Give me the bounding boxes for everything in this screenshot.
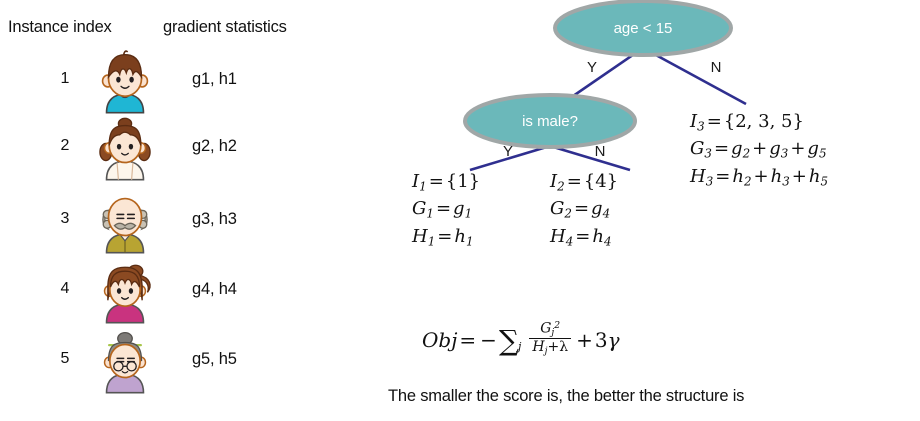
young-woman-avatar bbox=[92, 258, 158, 324]
instance-index-value: 5 bbox=[52, 350, 78, 368]
branch-label-root-yes: Y bbox=[587, 59, 597, 76]
instance-index-value: 4 bbox=[52, 280, 78, 298]
table-row: 5 bbox=[0, 328, 360, 398]
gradient-statistics-value: g4, h4 bbox=[192, 280, 237, 299]
summation-icon: ∑ bbox=[499, 330, 519, 352]
edge-child-no bbox=[550, 146, 630, 170]
branch-label-child-yes: Y bbox=[503, 143, 513, 160]
leaf-1-statistics: I1={1} G1=g1 H1=h1 bbox=[412, 168, 480, 250]
column-header-gradient-statistics: gradient statistics bbox=[163, 18, 287, 37]
objective-formula: Obj = − ∑ j Gj2 Hj+λ + 3γ bbox=[422, 322, 620, 358]
elderly-woman-avatar bbox=[92, 328, 158, 394]
table-row: 4 bbox=[0, 258, 360, 328]
column-header-instance-index: Instance index bbox=[8, 18, 112, 37]
leaf-3-gradient-sum: G3=g2+g3+g5 bbox=[690, 135, 828, 162]
table-row: 2 bbox=[0, 115, 360, 185]
gradient-statistics-value: g2, h2 bbox=[192, 137, 237, 156]
instance-index-value: 2 bbox=[52, 137, 78, 155]
caption-text: The smaller the score is, the better the… bbox=[388, 387, 744, 406]
table-row: 1 g1, h1 bbox=[0, 48, 360, 118]
girl-child-avatar bbox=[92, 115, 158, 181]
summation-index: j bbox=[518, 340, 521, 353]
leaf-3-hessian-sum: H3=h2+h3+h5 bbox=[690, 163, 828, 190]
objective-minus-sign: − bbox=[478, 328, 499, 352]
decision-tree-panel: age < 15 is male? Y N Y N I1={1} G1=g1 H… bbox=[360, 0, 920, 421]
instance-index-value: 3 bbox=[52, 210, 78, 228]
branch-label-root-no: N bbox=[711, 59, 722, 76]
leaf-3-instance-set: I3={2, 3, 5} bbox=[690, 108, 828, 135]
leaf-2-statistics: I2={4} G2=g4 H4=h4 bbox=[550, 168, 618, 250]
objective-fraction: Gj2 Hj+λ bbox=[529, 321, 571, 357]
table-row: 3 g3, h3 bbox=[0, 188, 360, 258]
objective-gamma: γ bbox=[608, 328, 620, 352]
leaf-1-hessian-sum: H1=h1 bbox=[412, 223, 480, 250]
objective-lhs: Obj bbox=[422, 328, 457, 352]
leaf-2-instance-set: I2={4} bbox=[550, 168, 618, 195]
gradient-statistics-value: g1, h1 bbox=[192, 70, 237, 89]
leaf-1-gradient-sum: G1=g1 bbox=[412, 195, 480, 222]
elderly-man-avatar bbox=[92, 188, 158, 254]
leaf-2-gradient-sum: G2=g4 bbox=[550, 195, 618, 222]
tree-node-is-male-label: is male? bbox=[522, 113, 578, 130]
leaf-3-statistics: I3={2, 3, 5} G3=g2+g3+g5 H3=h2+h3+h5 bbox=[690, 108, 828, 190]
leaf-2-hessian-sum: H4=h4 bbox=[550, 223, 618, 250]
fraction-numerator: Gj2 bbox=[537, 321, 563, 338]
branch-label-child-no: N bbox=[595, 143, 606, 160]
tree-node-root-label: age < 15 bbox=[614, 20, 673, 37]
objective-equals: = bbox=[457, 328, 478, 352]
boy-child-avatar bbox=[92, 48, 158, 114]
gradient-statistics-value: g5, h5 bbox=[192, 350, 237, 369]
fraction-denominator: Hj+λ bbox=[529, 338, 571, 357]
leaf-1-instance-set: I1={1} bbox=[412, 168, 480, 195]
objective-plus-sign: + bbox=[574, 328, 595, 352]
instance-index-value: 1 bbox=[52, 70, 78, 88]
instance-table-panel: Instance index gradient statistics 1 bbox=[0, 0, 360, 421]
objective-gamma-coefficient: 3 bbox=[595, 328, 608, 352]
gradient-statistics-value: g3, h3 bbox=[192, 210, 237, 229]
